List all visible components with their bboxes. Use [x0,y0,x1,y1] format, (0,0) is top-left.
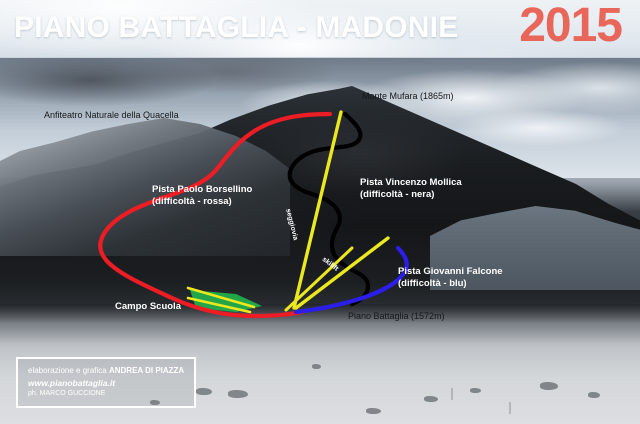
page-title: PIANO BATTAGLIA - MADONIE [14,11,458,45]
label-piste-mollica-name: Pista Vincenzo Mollica [360,177,462,189]
label-piano-battaglia: Piano Battaglia (1572m) [348,311,445,322]
header-band: PIANO BATTAGLIA - MADONIE 2015 [0,0,640,58]
lift-skilift-lower[interactable] [286,248,352,310]
credits-author-name: ANDREA DI PIAZZA [109,366,184,375]
year-badge: 2015 [519,2,622,50]
ski-area-photo-map: Anfiteatro Naturale della Quacella Monte… [0,58,640,424]
label-anfiteatro-quacella: Anfiteatro Naturale della Quacella [44,110,179,121]
piste-falcone[interactable] [296,248,407,312]
label-piste-borsellino-difficulty: (difficoltà - rossa) [152,196,252,208]
label-monte-mufara: Monte Mufara (1865m) [362,91,454,102]
label-piste-falcone: Pista Giovanni Falcone (difficoltà - blu… [398,266,503,290]
label-piste-falcone-difficulty: (difficoltà - blu) [398,278,503,290]
credits-line-author: elaborazione e grafica ANDREA DI PIAZZA [28,365,184,377]
label-piste-borsellino: Pista Paolo Borsellino (difficoltà - ros… [152,184,252,208]
credits-photographer: ph. MARCO GUCCIONE [28,389,184,399]
credits-author-prefix: elaborazione e grafica [28,366,109,375]
piste-borsellino[interactable] [100,114,330,316]
credits-website[interactable]: www.pianobattaglia.it [28,377,184,389]
label-piste-borsellino-name: Pista Paolo Borsellino [152,184,252,196]
label-piste-mollica-difficulty: (difficoltà - nera) [360,189,462,201]
label-piste-mollica: Pista Vincenzo Mollica (difficoltà - ner… [360,177,462,201]
label-piste-falcone-name: Pista Giovanni Falcone [398,266,503,278]
poster-root: PIANO BATTAGLIA - MADONIE 2015 [0,0,640,424]
label-campo-scuola: Campo Scuola [115,301,181,313]
credits-box: elaborazione e grafica ANDREA DI PIAZZA … [16,357,196,408]
